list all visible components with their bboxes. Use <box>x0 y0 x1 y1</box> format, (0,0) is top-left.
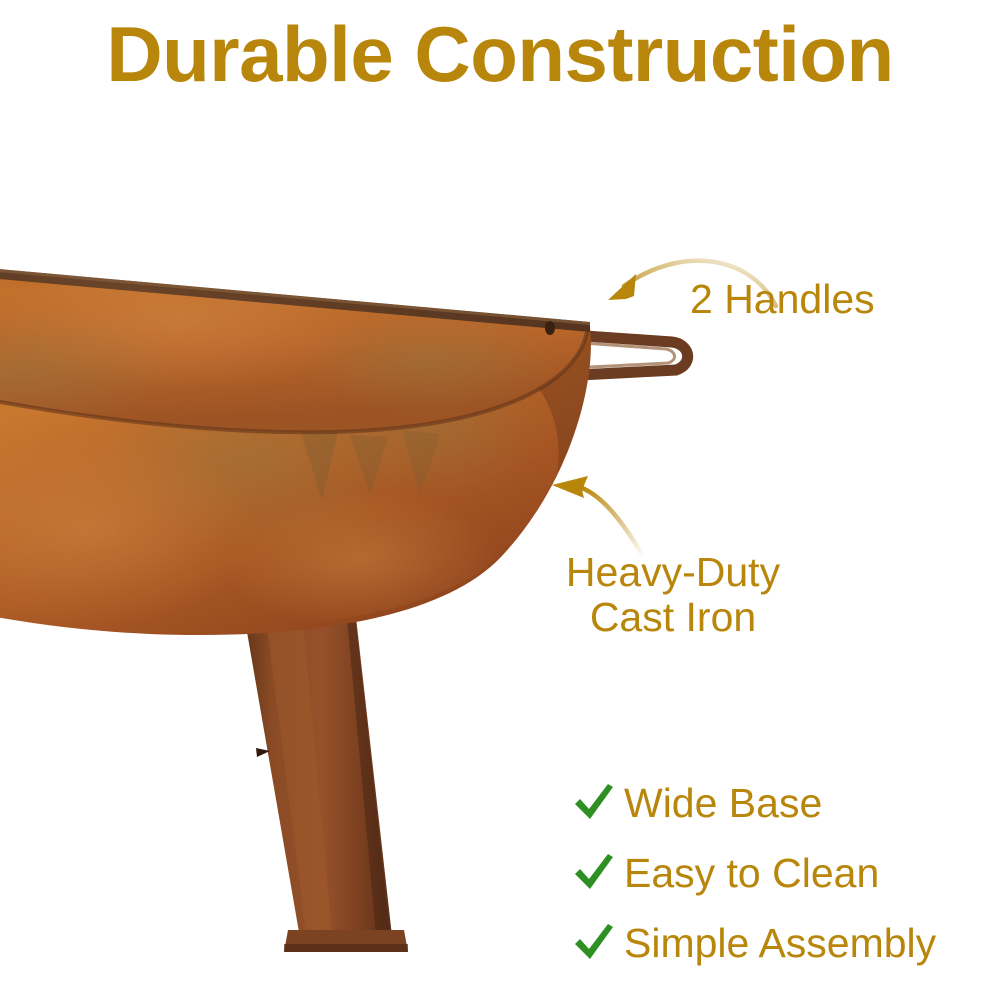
check-icon <box>572 783 624 823</box>
rivet <box>545 321 555 335</box>
leg-group <box>238 580 408 952</box>
callout-line-1: Heavy-Duty <box>540 550 806 595</box>
curved-arrow-to-bowl-icon <box>548 470 658 560</box>
bowl-group <box>0 244 600 635</box>
foot-shadow <box>284 944 408 952</box>
feature-item-simple-assembly: Simple Assembly <box>572 908 1000 978</box>
callout-label-handles: 2 Handles <box>690 277 875 322</box>
infographic-canvas: Durable Construction <box>0 0 1000 1000</box>
feature-label: Easy to Clean <box>624 850 879 896</box>
callout-line-2: Cast Iron <box>540 595 806 640</box>
feature-item-easy-to-clean: Easy to Clean <box>572 838 1000 908</box>
feature-item-wide-base: Wide Base <box>572 768 1000 838</box>
check-icon <box>572 853 624 893</box>
callout-label-cast-iron: Heavy-Duty Cast Iron <box>540 550 806 640</box>
check-icon <box>572 923 624 963</box>
bowl-patina-d <box>220 490 500 630</box>
feature-list: Wide Base Easy to Clean Simple Assembly <box>572 768 1000 978</box>
feature-label: Wide Base <box>624 780 822 826</box>
feature-label: Simple Assembly <box>624 920 936 966</box>
page-title: Durable Construction <box>0 14 1000 96</box>
